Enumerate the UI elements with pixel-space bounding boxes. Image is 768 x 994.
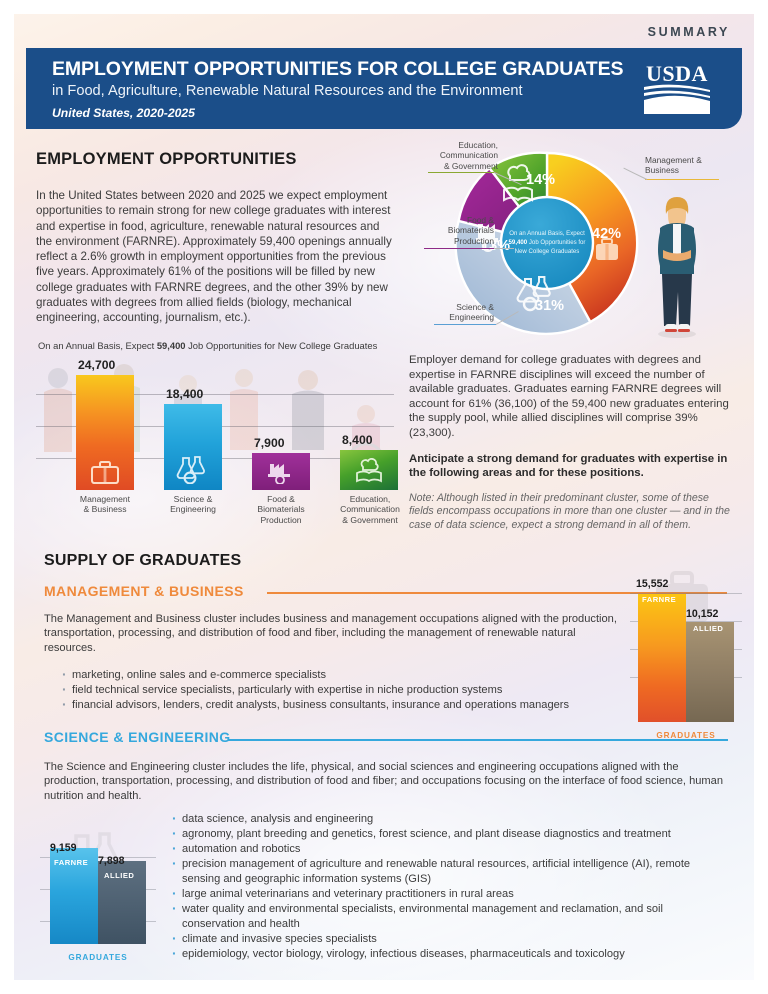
cluster-bullets-management-business: marketing, online sales and e-commerce s… (60, 668, 630, 713)
donut-leader-fbp (494, 248, 514, 249)
cluster-heading-science-engineering: SCIENCE & ENGINEERING (44, 729, 231, 745)
supply-chart-management-business: 15,552 FARNRE 10,152 ALLIED GRADUATES (630, 568, 742, 740)
list-item: precision management of agriculture and … (170, 857, 728, 886)
supply-value-allied-management-business: 10,152 (686, 608, 718, 620)
supply-tag-allied-management-business: ALLIED (693, 624, 723, 633)
book-brain-icon (353, 458, 385, 484)
donut-value-science-engineering: 31% (535, 298, 564, 314)
list-item: data science, analysis and engineering (170, 812, 728, 827)
list-item: field technical service specialists, par… (60, 683, 630, 698)
supply-value-allied-science-engineering: 7,898 (98, 855, 125, 867)
bar-chart-title: On an Annual Basis, Expect 59,400 Job Op… (38, 340, 377, 351)
cluster-heading-management-business: MANAGEMENT & BUSINESS (44, 583, 244, 599)
illustration-professional-woman (646, 188, 708, 340)
supply-bar-allied-management-business (686, 622, 734, 722)
supply-value-farnre-management-business: 15,552 (636, 578, 668, 590)
employment-right-column: Employer demand for college graduates wi… (409, 353, 734, 544)
cluster-bullets-science-engineering: data science, analysis and engineering a… (170, 812, 728, 962)
donut-label-underline-mb (645, 179, 719, 180)
bar-science-engineering (164, 404, 222, 490)
cluster-rule-science-engineering (228, 739, 728, 741)
donut-label-food-biomaterials: Food &BiomaterialsProduction (414, 215, 494, 246)
bar-value-science-engineering: 18,400 (166, 387, 203, 401)
bar-value-management-business: 24,700 (78, 358, 115, 372)
bar-value-food-biomaterials: 7,900 (254, 436, 285, 450)
briefcase-icon (90, 460, 120, 484)
page-subtitle: in Food, Agriculture, Renewable Natural … (52, 83, 523, 99)
infographic-page: SUMMARY EMPLOYMENT OPPORTUNITIES FOR COL… (0, 0, 768, 994)
bar-food-biomaterials (252, 453, 310, 490)
supply-chart-science-engineering: 9,159 FARNRE 7,898 ALLIED GRADUATES (40, 832, 156, 962)
employment-bar-chart: On an Annual Basis, Expect 59,400 Job Op… (36, 340, 396, 540)
donut-label-underline-ecg (428, 172, 498, 173)
supply-axis-label-science-engineering: GRADUATES (40, 953, 156, 962)
page-title: EMPLOYMENT OPPORTUNITIES FOR COLLEGE GRA… (52, 58, 623, 81)
right-paragraph-1: Employer demand for college graduates wi… (409, 353, 734, 441)
donut-label-underline-se (434, 324, 496, 325)
bar-value-education-communication-government: 8,400 (342, 433, 373, 447)
supply-tag-farnre-management-business: FARNRE (642, 595, 676, 604)
employment-heading: EMPLOYMENT OPPORTUNITIES (36, 150, 297, 169)
bar-category-food-biomaterials: Food &BiomaterialsProduction (243, 494, 319, 525)
list-item: automation and robotics (170, 842, 728, 857)
list-item: large animal veterinarians and veterinar… (170, 887, 728, 902)
usda-logo-icon: USDA (640, 60, 714, 116)
header-band: EMPLOYMENT OPPORTUNITIES FOR COLLEGE GRA… (26, 48, 742, 129)
bar-chart-plot: 24,700 18,400 7,900 (36, 362, 396, 490)
donut-label-science-engineering: Science &Engineering (424, 302, 494, 323)
donut-label-underline-fbp (424, 248, 494, 249)
supply-heading: SUPPLY OF GRADUATES (44, 552, 241, 570)
page-daterange: United States, 2020-2025 (52, 106, 195, 120)
bar-education-communication-government (340, 450, 398, 490)
employment-note: Note: Although listed in their predomina… (409, 492, 734, 533)
donut-value-education-communication-government: 14% (526, 172, 555, 188)
list-item: climate and invasive species specialists (170, 932, 728, 947)
supply-bar-farnre-management-business (638, 594, 686, 722)
bar-category-education-communication-government: Education,Communication& Government (328, 494, 412, 525)
right-paragraph-2: Anticipate a strong demand for graduates… (409, 452, 734, 481)
list-item: agronomy, plant breeding and genetics, f… (170, 827, 728, 842)
summary-label: SUMMARY (648, 25, 730, 39)
svg-text:USDA: USDA (646, 61, 708, 86)
donut-value-management-business: 42% (592, 226, 621, 242)
donut-label-education-communication-government: Education,Communication& Government (418, 140, 498, 171)
bar-category-science-engineering: Science &Engineering (155, 494, 231, 515)
supply-tag-farnre-science-engineering: FARNRE (54, 858, 88, 867)
list-item: financial advisors, lenders, credit anal… (60, 698, 630, 713)
factory-icon (266, 460, 296, 484)
employment-intro-paragraph: In the United States between 2020 and 20… (36, 188, 394, 326)
list-item: water quality and environmental speciali… (170, 902, 728, 931)
supply-value-farnre-science-engineering: 9,159 (50, 842, 77, 854)
donut-center-text: On an Annual Basis, Expect 59,400 Job Op… (505, 229, 589, 257)
list-item: epidemiology, vector biology, virology, … (170, 947, 728, 962)
flask-gear-icon (176, 456, 210, 484)
cluster-body-science-engineering: The Science and Engineering cluster incl… (44, 760, 734, 803)
bar-management-business (76, 375, 134, 490)
cluster-body-management-business: The Management and Business cluster incl… (44, 612, 624, 655)
bar-category-management-business: Management& Business (67, 494, 143, 515)
donut-label-management-business: Management &Business (645, 155, 735, 176)
supply-tag-allied-science-engineering: ALLIED (104, 871, 134, 880)
list-item: marketing, online sales and e-commerce s… (60, 668, 630, 683)
